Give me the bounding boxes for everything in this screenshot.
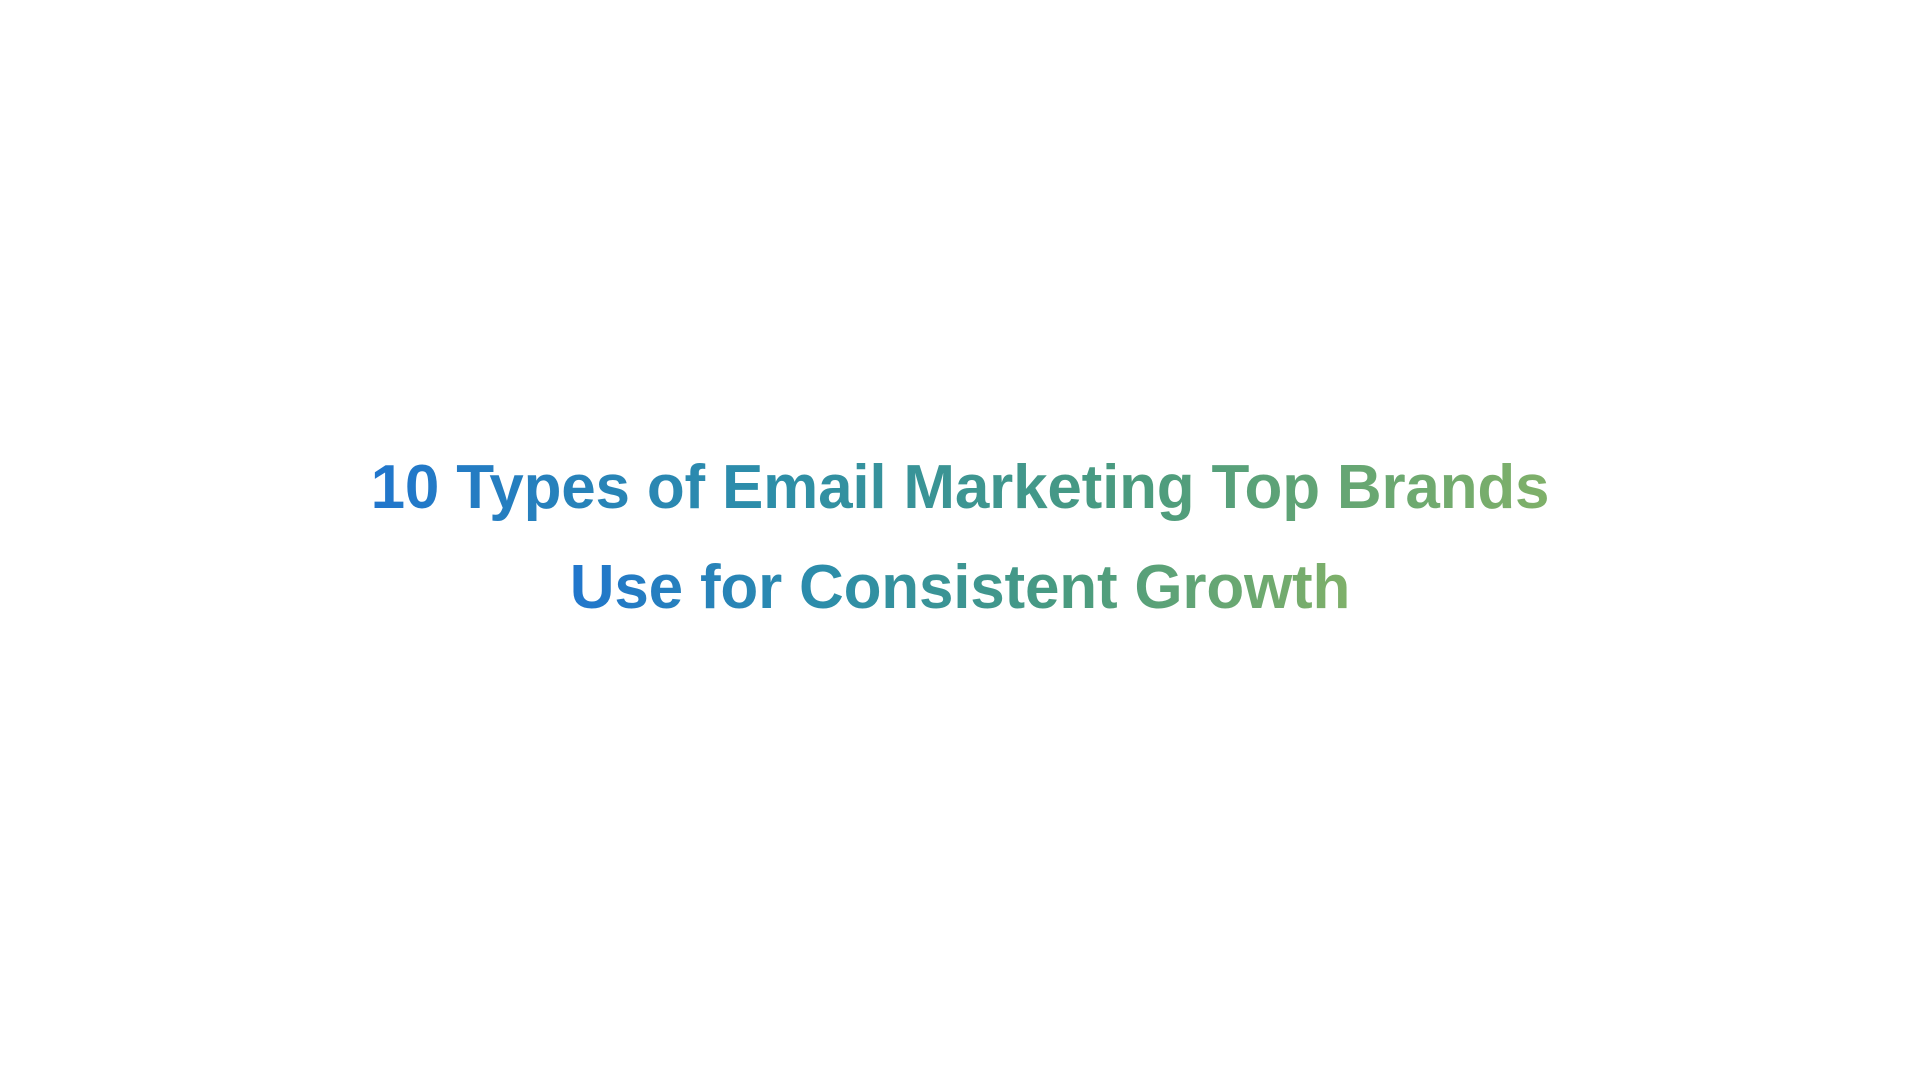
headline-line-1: 10 Types of Email Marketing Top Brands <box>371 438 1550 538</box>
page-title: 10 Types of Email Marketing Top Brands U… <box>0 438 1920 638</box>
headline-block: 10 Types of Email Marketing Top Brands U… <box>0 438 1920 638</box>
page-canvas: 10 Types of Email Marketing Top Brands U… <box>0 0 1920 1080</box>
headline-line-2: Use for Consistent Growth <box>570 538 1350 638</box>
